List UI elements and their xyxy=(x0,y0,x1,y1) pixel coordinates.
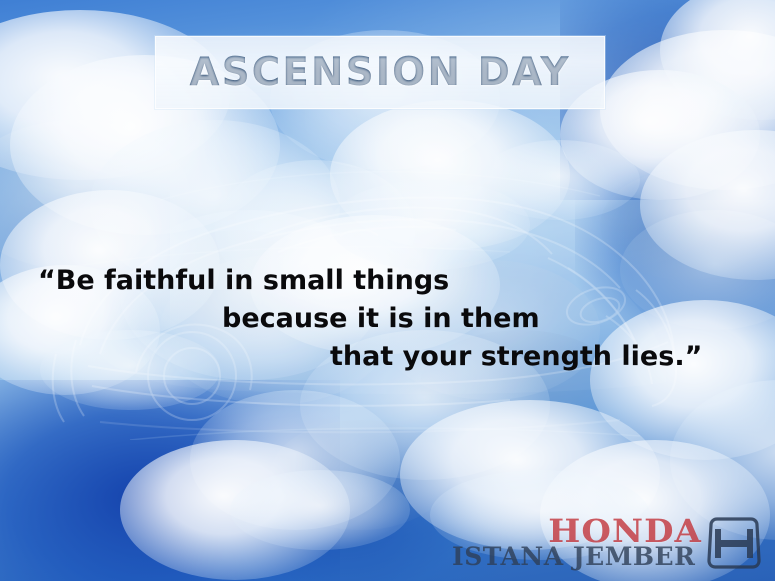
logo-wordmarks: HONDA ISTANA JEMBER xyxy=(452,512,702,576)
honda-h-emblem-icon xyxy=(704,516,764,571)
honda-dealer-logo: HONDA ISTANA JEMBER xyxy=(452,512,767,576)
title-banner: ASCENSION DAY xyxy=(155,36,605,109)
quote-line-1: “Be faithful in small things xyxy=(0,262,775,300)
poster-canvas: ASCENSION DAY “Be faithful in small thin… xyxy=(0,0,775,581)
quote-block: “Be faithful in small things because it … xyxy=(0,262,775,376)
quote-line-3: that your strength lies.” xyxy=(0,338,775,376)
page-title: ASCENSION DAY xyxy=(189,50,570,95)
quote-line-2: because it is in them xyxy=(0,300,775,338)
dealer-name-text: ISTANA JEMBER xyxy=(452,542,695,571)
